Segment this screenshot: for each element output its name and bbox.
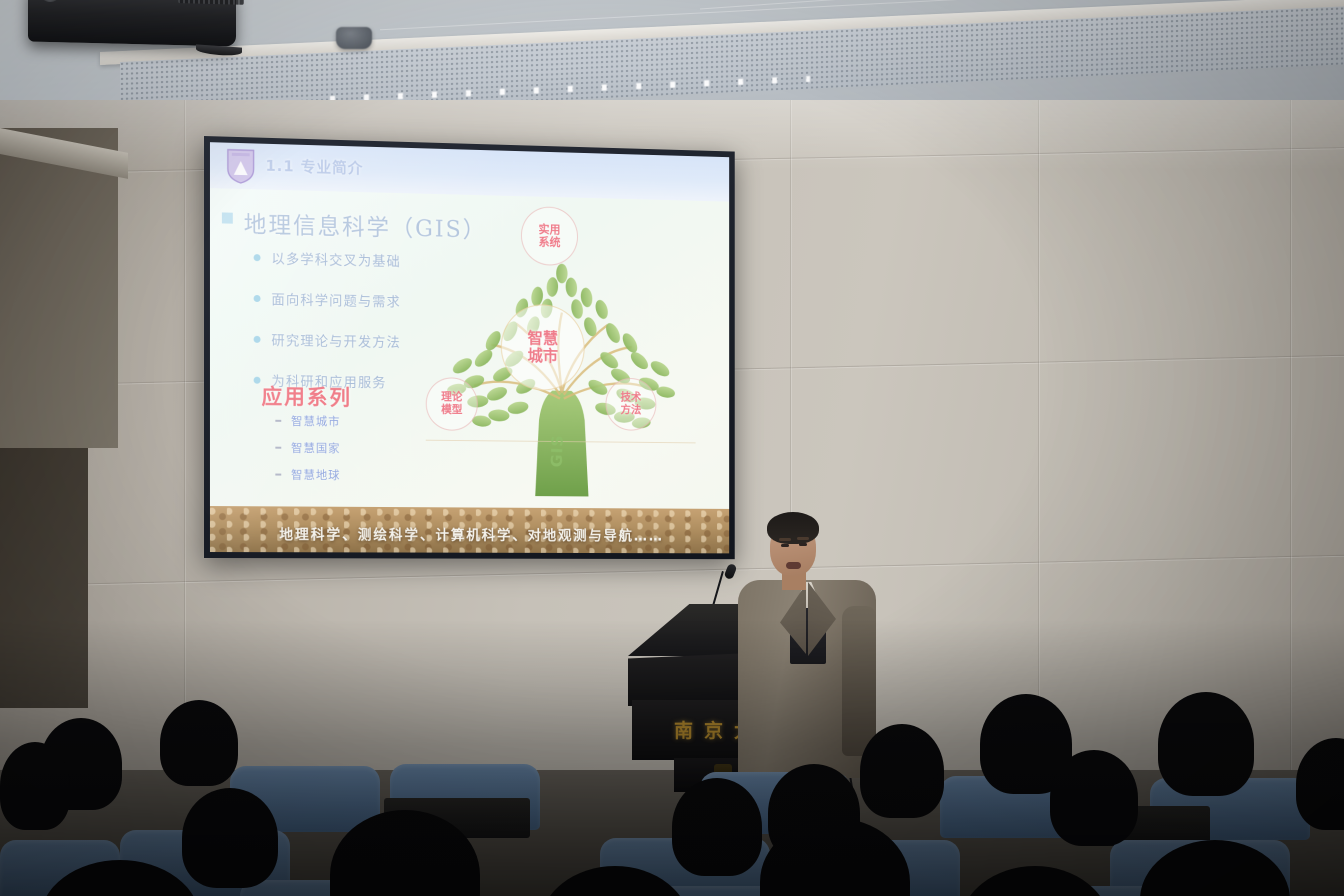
application-series-list: 智慧城市 智慧国家 智慧地球	[275, 413, 340, 494]
slide-header-title: 1.1 专业简介	[265, 155, 363, 179]
presenter-eye-left	[781, 544, 789, 547]
smoke-detector-icon	[336, 27, 372, 49]
tree-circle-line: 城市	[528, 347, 558, 365]
presenter-hair	[767, 512, 819, 544]
list-item: 以多学科交叉为基础	[254, 247, 401, 270]
audience-head	[0, 742, 70, 830]
presenter-eye-right	[799, 543, 807, 546]
bullet-dot-icon	[254, 335, 261, 342]
tree-circle-smart-city: 智慧 城市	[501, 304, 585, 391]
tree-circle-technique-method: 技术 方法	[605, 378, 656, 431]
list-item: 智慧地球	[275, 467, 340, 483]
list-item: 面向科学问题与需求	[254, 288, 401, 311]
tree-circle-practical-system: 实用 系统	[521, 206, 578, 266]
slide-footer-text: 地理科学、测绘科学、计算机科学、对地观测与导航……	[279, 524, 664, 545]
bullet-dot-icon	[254, 294, 261, 301]
slide-body: 地理信息科学（GIS） 以多学科交叉为基础 面向科学问题与需求 研究理论与开发方…	[210, 188, 729, 553]
audience-head	[960, 866, 1110, 896]
application-item-label: 智慧地球	[291, 467, 340, 483]
ceiling-projector	[28, 0, 236, 47]
audience-seating	[0, 690, 1344, 896]
bullet-label: 研究理论与开发方法	[271, 329, 400, 351]
bullet-dot-icon	[254, 376, 261, 383]
projection-screen: 1.1 专业简介 地理信息科学（GIS） 以多学科交叉为基础 面向科学问题与需求	[204, 136, 735, 559]
audience-head	[160, 700, 238, 786]
presenter-eyebrow-right	[797, 537, 809, 540]
projector-vent	[178, 0, 244, 5]
tree-circle-line: 系统	[539, 236, 561, 249]
dash-bullet-icon	[275, 447, 281, 449]
tree-trunk-label: GIS	[547, 434, 566, 468]
wall-alcove-lower	[0, 448, 88, 708]
tree-circle-line: 智慧	[528, 329, 558, 347]
slide-footer-banner: 地理科学、测绘科学、计算机科学、对地观测与导航……	[210, 506, 729, 553]
list-item: 智慧国家	[275, 440, 340, 457]
nanjing-university-shield-icon	[226, 147, 256, 186]
title-square-bullet-icon	[222, 212, 233, 223]
slide-content: 1.1 专业简介 地理信息科学（GIS） 以多学科交叉为基础 面向科学问题与需求	[210, 142, 729, 553]
bullet-dot-icon	[254, 254, 261, 261]
wall-alcove	[0, 128, 118, 448]
audience-head	[1050, 750, 1138, 846]
audience-head	[672, 778, 762, 876]
bullet-label: 以多学科交叉为基础	[271, 248, 400, 271]
audience-head	[1296, 738, 1344, 830]
tree-circle-theory-model: 理论 模型	[426, 377, 478, 431]
list-item: 智慧城市	[275, 413, 340, 430]
presenter-eyebrow-left	[779, 538, 791, 541]
audience-head	[1158, 692, 1254, 796]
presenter-mouth	[786, 562, 801, 569]
dash-bullet-icon	[275, 420, 281, 422]
gis-tree-diagram: 实用 系统 智慧 城市 理论 模型 技术 方法 GIS	[418, 199, 703, 514]
tree-circle-line: 模型	[441, 404, 462, 417]
audience-head	[860, 724, 944, 818]
audience-head	[182, 788, 278, 888]
application-item-label: 智慧国家	[291, 440, 340, 456]
application-item-label: 智慧城市	[291, 413, 340, 429]
projector-lens-icon	[42, 0, 58, 2]
bullet-label: 面向科学问题与需求	[271, 288, 400, 310]
tree-circle-line: 方法	[621, 404, 642, 417]
list-item: 研究理论与开发方法	[254, 329, 401, 351]
lecture-hall-photo: 1.1 专业简介 地理信息科学（GIS） 以多学科交叉为基础 面向科学问题与需求	[0, 0, 1344, 896]
application-series-heading: 应用系列	[262, 381, 352, 412]
dash-bullet-icon	[275, 474, 281, 476]
